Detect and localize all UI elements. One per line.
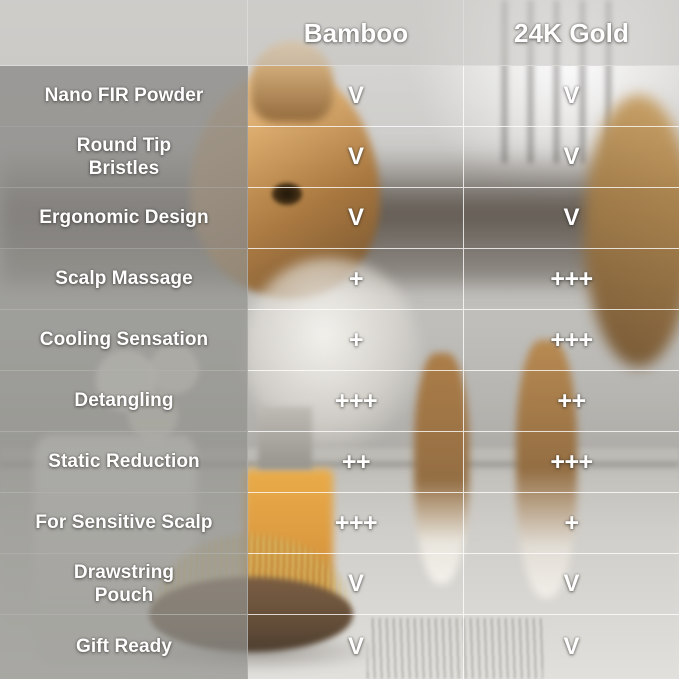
cell-scalp-massage-24k-gold: +++ <box>464 249 679 310</box>
row-label-text: Static Reduction <box>40 451 208 473</box>
cell-static-reduction-bamboo: ++ <box>248 432 464 493</box>
table-corner-cell <box>0 0 248 66</box>
rating-value: +++ <box>550 448 592 478</box>
column-header-bamboo: Bamboo <box>248 0 464 66</box>
cell-drawstring-pouch-bamboo: V <box>248 554 464 615</box>
rating-value: V <box>348 82 364 110</box>
row-label-text: Cooling Sensation <box>32 329 216 351</box>
row-label-text: Scalp Massage <box>47 268 201 290</box>
cell-drawstring-pouch-24k-gold: V <box>464 554 679 615</box>
cell-ergonomic-design-24k-gold: V <box>464 188 679 249</box>
rating-value: + <box>349 265 363 295</box>
cell-detangling-bamboo: +++ <box>248 371 464 432</box>
row-label-detangling: Detangling <box>0 371 248 432</box>
feature-comparison-table: Bamboo 24K Gold Nano FIR Powder V V Roun… <box>0 0 679 679</box>
cell-round-tip-bristles-bamboo: V <box>248 127 464 188</box>
row-label-text: Gift Ready <box>68 636 180 658</box>
row-label-scalp-massage: Scalp Massage <box>0 249 248 310</box>
comparison-table-graphic: Bamboo 24K Gold Nano FIR Powder V V Roun… <box>0 0 679 679</box>
cell-gift-ready-24k-gold: V <box>464 615 679 679</box>
cell-cooling-sensation-bamboo: + <box>248 310 464 371</box>
row-label-for-sensitive-scalp: For Sensitive Scalp <box>0 493 248 554</box>
rating-value: V <box>348 204 364 232</box>
rating-value: V <box>348 570 364 598</box>
row-label-static-reduction: Static Reduction <box>0 432 248 493</box>
rating-value: V <box>348 143 364 171</box>
cell-static-reduction-24k-gold: +++ <box>464 432 679 493</box>
row-label-text: Nano FIR Powder <box>37 85 212 107</box>
rating-value: + <box>564 509 578 539</box>
rating-value: ++ <box>557 387 585 417</box>
rating-value: V <box>563 204 579 232</box>
row-label-text: Ergonomic Design <box>31 207 216 229</box>
cell-gift-ready-bamboo: V <box>248 615 464 679</box>
row-label-text: For Sensitive Scalp <box>27 512 220 534</box>
row-label-round-tip-bristles: Round TipBristles <box>0 127 248 188</box>
column-header-bamboo-label: Bamboo <box>304 18 409 49</box>
column-header-24k-gold-label: 24K Gold <box>514 18 629 49</box>
column-header-24k-gold: 24K Gold <box>464 0 679 66</box>
rating-value: +++ <box>550 265 592 295</box>
rating-value: V <box>563 633 579 661</box>
row-label-text: Round TipBristles <box>69 135 179 180</box>
row-label-gift-ready: Gift Ready <box>0 615 248 679</box>
cell-nano-fir-powder-bamboo: V <box>248 66 464 127</box>
rating-value: V <box>563 82 579 110</box>
rating-value: V <box>348 633 364 661</box>
cell-for-sensitive-scalp-24k-gold: + <box>464 493 679 554</box>
rating-value: ++ <box>342 448 370 478</box>
row-label-cooling-sensation: Cooling Sensation <box>0 310 248 371</box>
cell-nano-fir-powder-24k-gold: V <box>464 66 679 127</box>
rating-value: +++ <box>550 326 592 356</box>
rating-value: V <box>563 143 579 171</box>
cell-scalp-massage-bamboo: + <box>248 249 464 310</box>
cell-round-tip-bristles-24k-gold: V <box>464 127 679 188</box>
cell-ergonomic-design-bamboo: V <box>248 188 464 249</box>
rating-value: + <box>349 326 363 356</box>
cell-cooling-sensation-24k-gold: +++ <box>464 310 679 371</box>
row-label-ergonomic-design: Ergonomic Design <box>0 188 248 249</box>
row-label-nano-fir-powder: Nano FIR Powder <box>0 66 248 127</box>
row-label-drawstring-pouch: DrawstringPouch <box>0 554 248 615</box>
rating-value: +++ <box>335 387 377 417</box>
cell-detangling-24k-gold: ++ <box>464 371 679 432</box>
row-label-text: Detangling <box>66 390 181 412</box>
rating-value: V <box>563 570 579 598</box>
row-label-text: DrawstringPouch <box>66 562 182 607</box>
rating-value: +++ <box>335 509 377 539</box>
cell-for-sensitive-scalp-bamboo: +++ <box>248 493 464 554</box>
